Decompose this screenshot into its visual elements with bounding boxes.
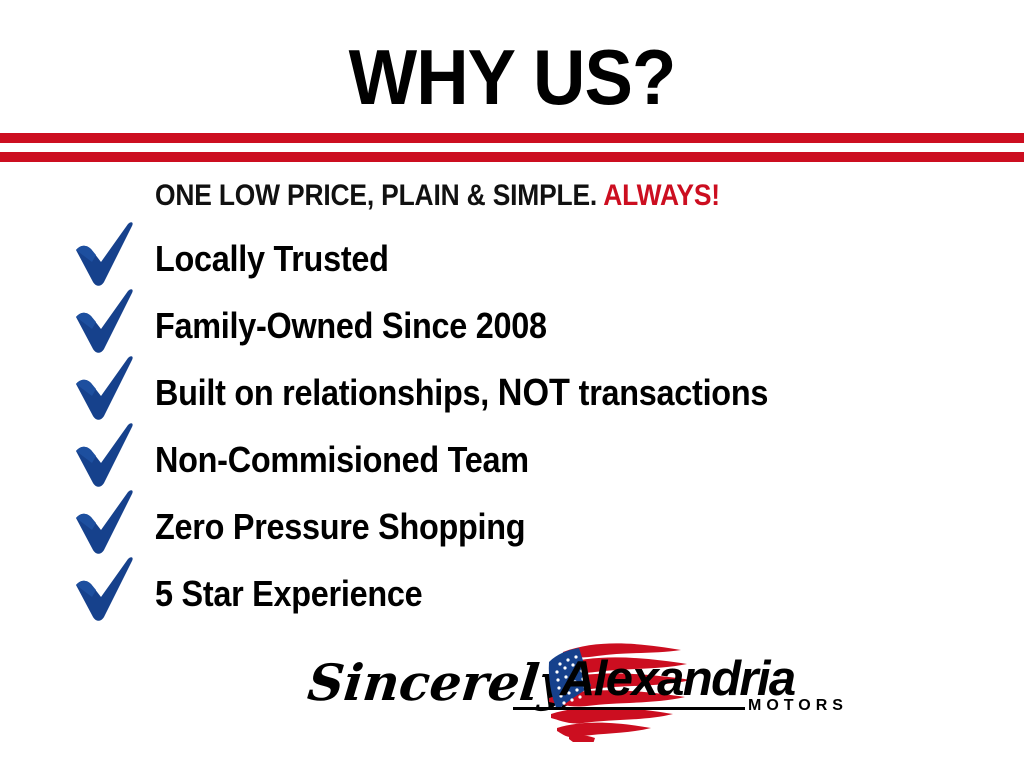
subtitle-main: ONE LOW PRICE, PLAIN & SIMPLE. (155, 179, 597, 212)
list-item-text-after: transactions (570, 372, 768, 413)
checkmark-icon (70, 289, 142, 355)
list-item-label: Family-Owned Since 2008 (155, 307, 547, 345)
logo-underline (513, 707, 745, 710)
checkmark-icon (70, 490, 142, 556)
benefits-list: Locally Trusted Family-Owned Since 2008 … (0, 228, 1024, 630)
checkmark-icon (70, 222, 142, 288)
list-item-text-before: Built on relationships, (155, 372, 498, 413)
divider-rule-upper (0, 133, 1024, 143)
checkmark-icon (70, 557, 142, 623)
slide-canvas: WHY US? ONE LOW PRICE, PLAIN & SIMPLE. A… (0, 0, 1024, 768)
brand-subtitle: MOTORS (748, 697, 848, 715)
footer: Sincerely, (0, 640, 1024, 750)
subtitle: ONE LOW PRICE, PLAIN & SIMPLE. ALWAYS! (155, 180, 720, 212)
divider-rule-lower (0, 152, 1024, 162)
list-item-label: 5 Star Experience (155, 575, 422, 613)
list-item-label: Non-Commisioned Team (155, 441, 529, 479)
list-item-label: Zero Pressure Shopping (155, 508, 525, 546)
list-item-emphasis: NOT (498, 372, 570, 414)
checkmark-icon (70, 423, 142, 489)
page-title: WHY US? (36, 38, 988, 116)
list-item: Zero Pressure Shopping (0, 496, 1024, 563)
subtitle-accent: ALWAYS! (603, 179, 720, 212)
list-item: Non-Commisioned Team (0, 429, 1024, 496)
list-item: Built on relationships, NOT transactions (0, 362, 1024, 429)
list-item: Locally Trusted (0, 228, 1024, 295)
list-item: 5 Star Experience (0, 563, 1024, 630)
list-item-label: Built on relationships, NOT transactions (155, 374, 768, 412)
list-item-label: Locally Trusted (155, 240, 389, 278)
checkmark-icon (70, 356, 142, 422)
list-item: Family-Owned Since 2008 (0, 295, 1024, 362)
brand-logo: Alexandria MOTORS (505, 645, 805, 745)
